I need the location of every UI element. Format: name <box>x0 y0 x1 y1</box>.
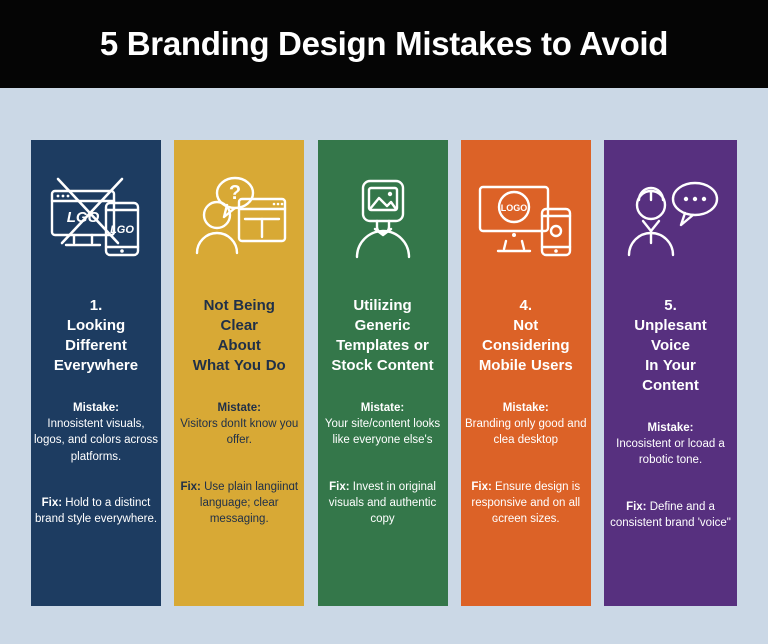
fix-text: Fix: Invest in original visuals and auth… <box>321 479 445 528</box>
mistake-text: Incosistent or lcoad a robotic tone. <box>609 436 733 469</box>
fix-text: Fix: Define and a consistent brand 'voic… <box>609 499 733 532</box>
card-looking-different-everywhere[interactable]: LGO LGO 1. Looking Different Everywhere … <box>31 140 161 606</box>
card-body: Mistake: Innosistent visuals, logos, and… <box>34 400 158 528</box>
fix-label: Fix: <box>626 501 646 513</box>
mistake-text: Your site/content looks like everyone el… <box>321 416 445 449</box>
mistake-label: Mistate: <box>177 400 301 416</box>
fix-label: Fix: <box>42 497 62 509</box>
fix-text: Fix: Hold to a distinct brand style ever… <box>34 495 158 528</box>
svg-text:?: ? <box>229 182 241 204</box>
mistake-label: Mistake: <box>609 420 733 436</box>
fix-label: Fix: <box>471 481 491 493</box>
fix-text: Fix: Use plain langiinɑt language; clear… <box>177 479 301 528</box>
mistake-text: Branding only good and clea desktop <box>464 416 588 449</box>
page-title: 5 Branding Design Mistakes to Avoid <box>100 25 668 63</box>
card-heading: Not Being Clear About What You Do <box>178 296 300 376</box>
card-utilizing-generic-templates-or-stock-content[interactable]: Utilizing Generic Templates or Stock Con… <box>318 140 448 606</box>
monitor-logo-and-mobile-phone-icon: LOGO <box>468 140 584 290</box>
mistake-label: Mistate: <box>321 400 445 416</box>
fix-label: Fix: <box>180 481 200 493</box>
mistake-label: Mistake: <box>464 400 588 416</box>
card-not-considering-mobile-users[interactable]: LOGO 4. Not Considering Mobile Users Mis… <box>461 140 591 606</box>
card-unplesant-voice-in-your-content[interactable]: 5. Unplesant Voice In Your Content Mista… <box>604 140 737 606</box>
infographic-poster: 5 Branding Design Mistakes to Avoid LGO <box>0 0 768 644</box>
card-heading: 5. Unplesant Voice In Your Content <box>610 296 732 396</box>
businessperson-with-speech-bubble-icon <box>611 140 730 290</box>
title-bar: 5 Branding Design Mistakes to Avoid <box>0 0 768 88</box>
card-heading: 1. Looking Different Everywhere <box>35 296 157 376</box>
fix-label: Fix: <box>329 481 349 493</box>
card-body: Mistake: Branding only good and clea des… <box>464 400 588 528</box>
svg-text:LGO: LGO <box>110 224 134 236</box>
person-question-bubble-browser-icon: ? <box>181 140 297 290</box>
person-with-image-placeholder-head-icon <box>325 140 441 290</box>
card-body: Mistate: Visitors donIt know you offer. … <box>177 400 301 528</box>
card-body: Mistake: Incosistent or lcoad a robotic … <box>609 420 733 532</box>
card-body: Mistate: Your site/content looks like ev… <box>321 400 445 528</box>
mistake-text: Innosistent visuals, logos, and colors a… <box>34 416 158 465</box>
cards-row: LGO LGO 1. Looking Different Everywhere … <box>0 140 768 606</box>
fix-text: Fix: Ensure design is responsive and on … <box>464 479 588 528</box>
svg-text:LOGO: LOGO <box>501 203 528 213</box>
card-not-being-clear-about-what-you-do[interactable]: ? Not Being Clear About What You Do Mist… <box>174 140 304 606</box>
card-heading: 4. Not Considering Mobile Users <box>465 296 587 376</box>
mistake-text: Visitors donIt know you offer. <box>177 416 301 449</box>
crossed-out-monitor-and-phone-logo-icon: LGO LGO <box>38 140 154 290</box>
card-heading: Utilizing Generic Templates or Stock Con… <box>322 296 444 376</box>
mistake-label: Mistake: <box>34 400 158 416</box>
fix-detail: Use plain langiinɑt language; clear mess… <box>200 481 298 526</box>
